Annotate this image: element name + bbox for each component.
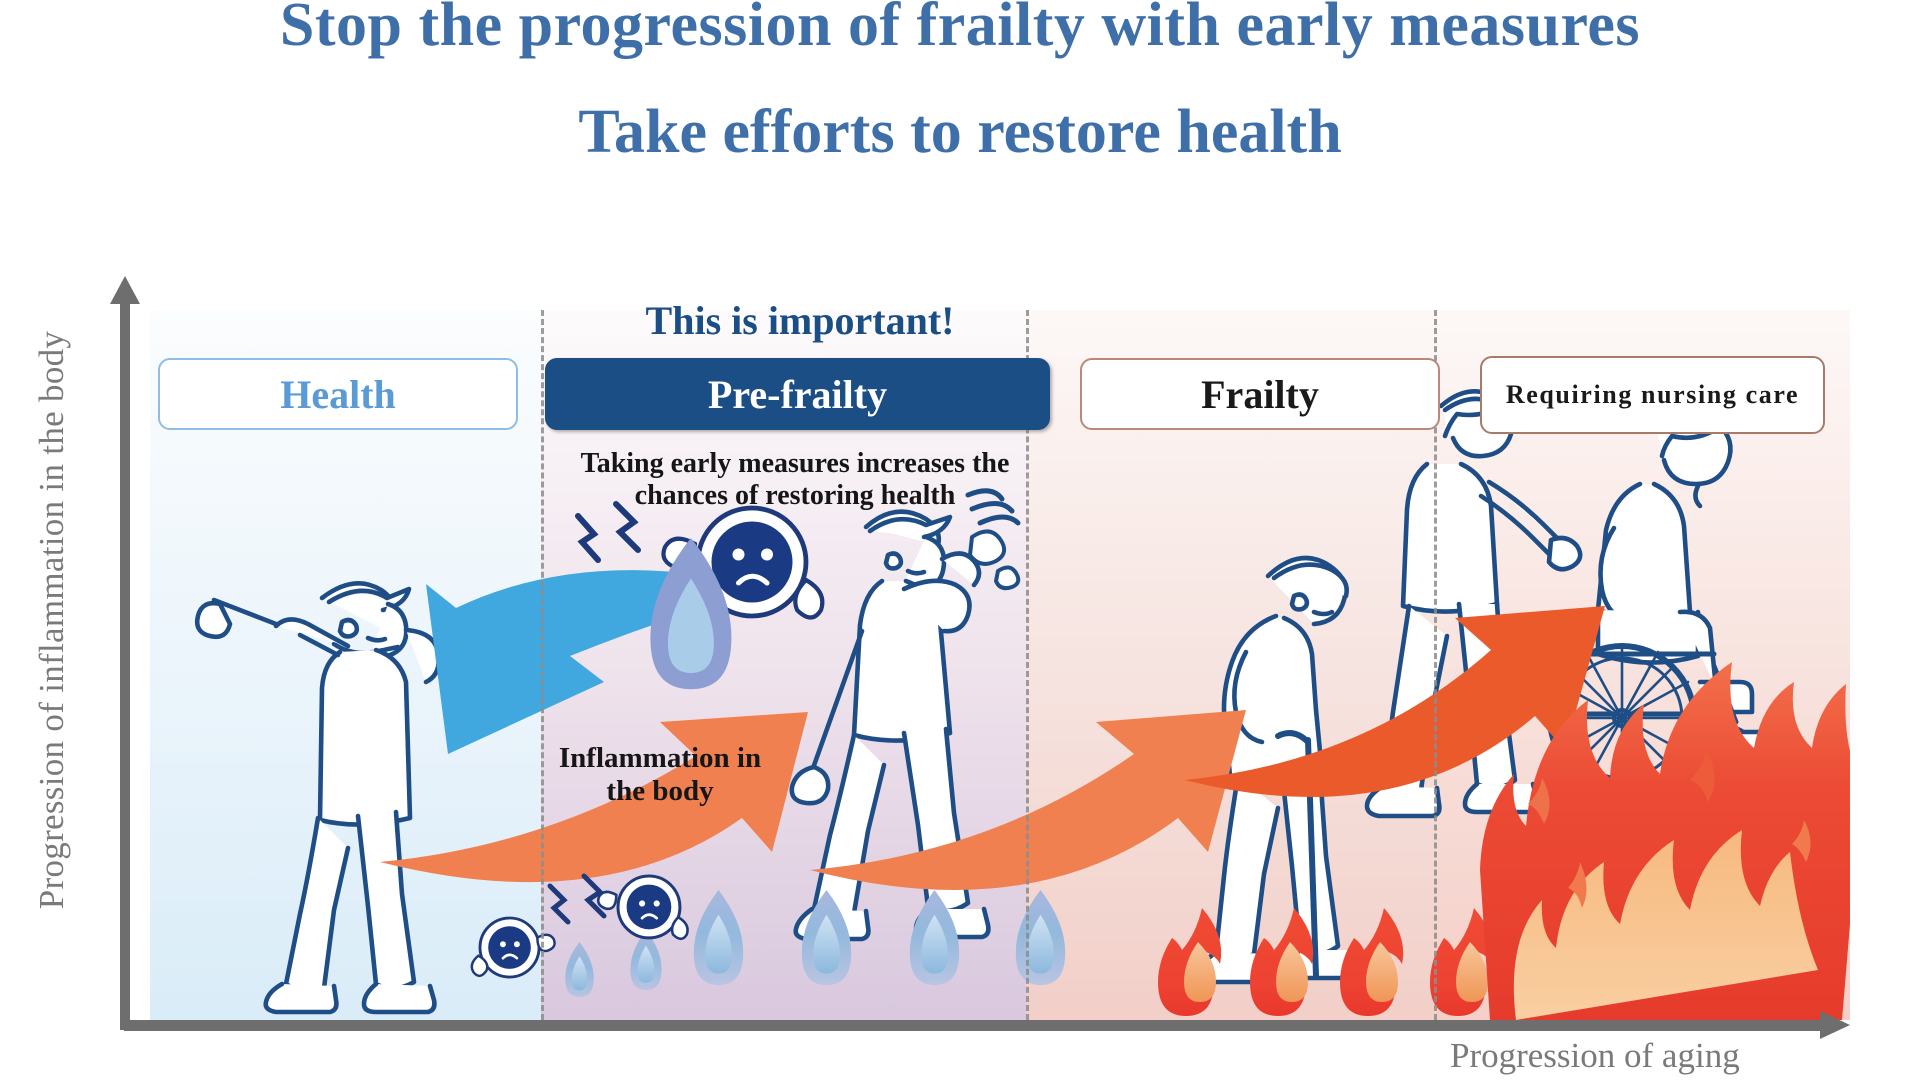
stage-label-health-text: Health xyxy=(280,371,396,418)
blue-flame-small-1 xyxy=(565,942,594,997)
blue-flame-1 xyxy=(694,890,743,985)
x-axis-label: Progression of aging xyxy=(1450,1036,1740,1076)
stage-label-nursing-care-text: Requiring nursing care xyxy=(1506,380,1799,409)
stage-label-pre-frailty-text: Pre-frailty xyxy=(708,371,887,418)
page-title-line2: Take efforts to restore health xyxy=(0,101,1920,164)
y-axis-line xyxy=(120,300,130,1030)
page-title-line1: Stop the progression of frailty with ear… xyxy=(0,0,1920,57)
y-axis-label: Progression of inflammation in the body xyxy=(32,270,72,970)
title-block: Stop the progression of frailty with ear… xyxy=(0,0,1920,164)
red-flame-3 xyxy=(1340,908,1403,1016)
callout-important: This is important! xyxy=(575,297,1025,344)
stage-label-health[interactable]: Health xyxy=(158,358,518,430)
sad-face-small-2 xyxy=(598,876,687,939)
red-flame-1 xyxy=(1158,908,1221,1016)
anger-marks-small xyxy=(550,876,604,922)
stage-label-nursing-care[interactable]: Requiring nursing care xyxy=(1480,356,1825,434)
stage-label-pre-frailty[interactable]: Pre-frailty xyxy=(545,358,1050,430)
blue-flame-4 xyxy=(1016,890,1065,985)
x-axis-line xyxy=(124,1020,1824,1031)
x-axis-arrowhead xyxy=(1820,1011,1850,1039)
callout-early-measures: Taking early measures increases the chan… xyxy=(560,448,1030,513)
stage-label-frailty[interactable]: Frailty xyxy=(1080,358,1440,430)
callout-inflammation: Inflammation in the body xyxy=(545,742,775,808)
infographic-root: Stop the progression of frailty with ear… xyxy=(0,0,1920,1087)
divider-health-prefrailty xyxy=(541,310,544,1020)
figure-healthy-golfer xyxy=(197,583,439,1012)
stage-label-frailty-text: Frailty xyxy=(1201,371,1319,418)
